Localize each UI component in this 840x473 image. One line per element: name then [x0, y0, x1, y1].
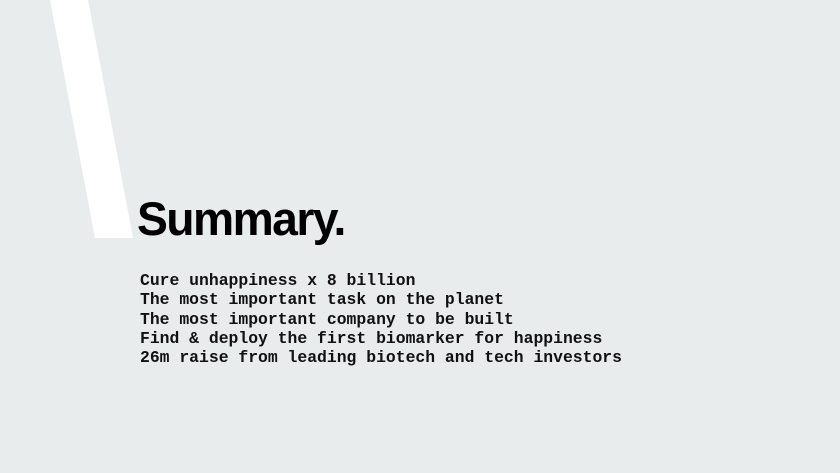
- list-item: The most important company to be built: [140, 310, 622, 329]
- list-item: Cure unhappiness x 8 billion: [140, 271, 622, 290]
- list-item: Find & deploy the first biomarker for ha…: [140, 329, 622, 348]
- list-item: The most important task on the planet: [140, 290, 622, 309]
- presentation-slide: Summary. Cure unhappiness x 8 billion Th…: [0, 0, 840, 473]
- list-item: 26m raise from leading biotech and tech …: [140, 348, 622, 367]
- summary-list: Cure unhappiness x 8 billion The most im…: [140, 271, 622, 367]
- page-title: Summary.: [137, 195, 345, 242]
